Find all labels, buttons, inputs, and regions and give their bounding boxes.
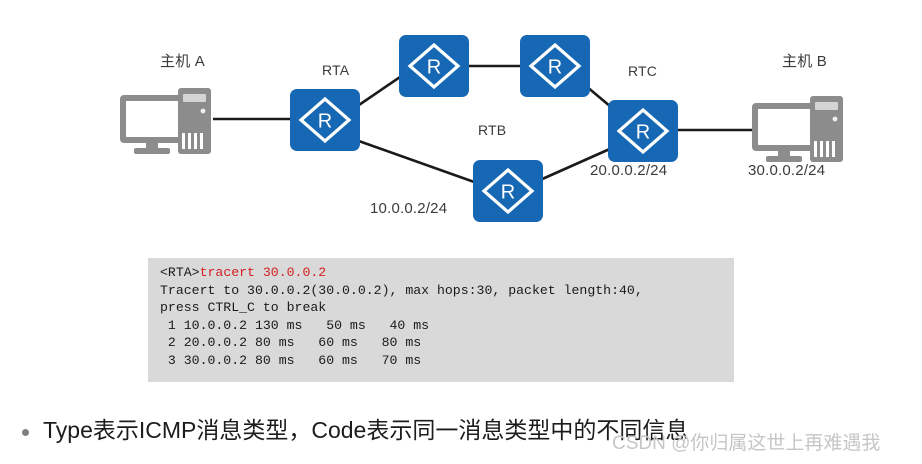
ip-label-host-b: 30.0.0.2/24 (748, 162, 825, 179)
router-rtc-label: RTC (628, 63, 657, 79)
terminal-line: Tracert to 30.0.0.2(30.0.0.2), max hops:… (160, 282, 734, 300)
router-rta-icon (290, 89, 360, 151)
link-rta-rtb (356, 140, 477, 183)
router-r1-icon (399, 35, 469, 97)
network-topology-diagram: R (0, 0, 922, 240)
bullet-dot-icon (22, 429, 29, 436)
router-r2-icon (520, 35, 590, 97)
terminal-output-block: <RTA>tracert 30.0.0.2 Tracert to 30.0.0.… (148, 258, 734, 382)
router-rtc-icon (608, 100, 678, 162)
host-a-icon (120, 88, 211, 154)
ip-label-rtc: 20.0.0.2/24 (590, 162, 667, 179)
link-rta-r1 (356, 75, 403, 107)
bullet-row: Type表示ICMP消息类型，Code表示同一消息类型中的不同信息 (22, 414, 902, 446)
host-b-icon (752, 96, 843, 162)
topology-svg: R (0, 0, 922, 240)
router-rtb-label: RTB (478, 122, 506, 138)
terminal-command-line: <RTA>tracert 30.0.0.2 (160, 264, 734, 282)
terminal-prompt: <RTA> (160, 265, 200, 280)
terminal-line: 1 10.0.0.2 130 ms 50 ms 40 ms (160, 317, 734, 335)
ip-label-rtb: 10.0.0.2/24 (370, 200, 447, 217)
router-rtb-icon (473, 160, 543, 222)
host-a-label: 主机 A (160, 50, 205, 71)
terminal-command: tracert 30.0.0.2 (200, 265, 327, 280)
terminal-line: press CTRL_C to break (160, 299, 734, 317)
host-b-label: 主机 B (782, 50, 827, 71)
bullet-text: Type表示ICMP消息类型，Code表示同一消息类型中的不同信息 (43, 414, 688, 446)
terminal-line: 3 30.0.0.2 80 ms 60 ms 70 ms (160, 352, 734, 370)
terminal-line: 2 20.0.0.2 80 ms 60 ms 80 ms (160, 334, 734, 352)
router-rta-label: RTA (322, 62, 349, 78)
